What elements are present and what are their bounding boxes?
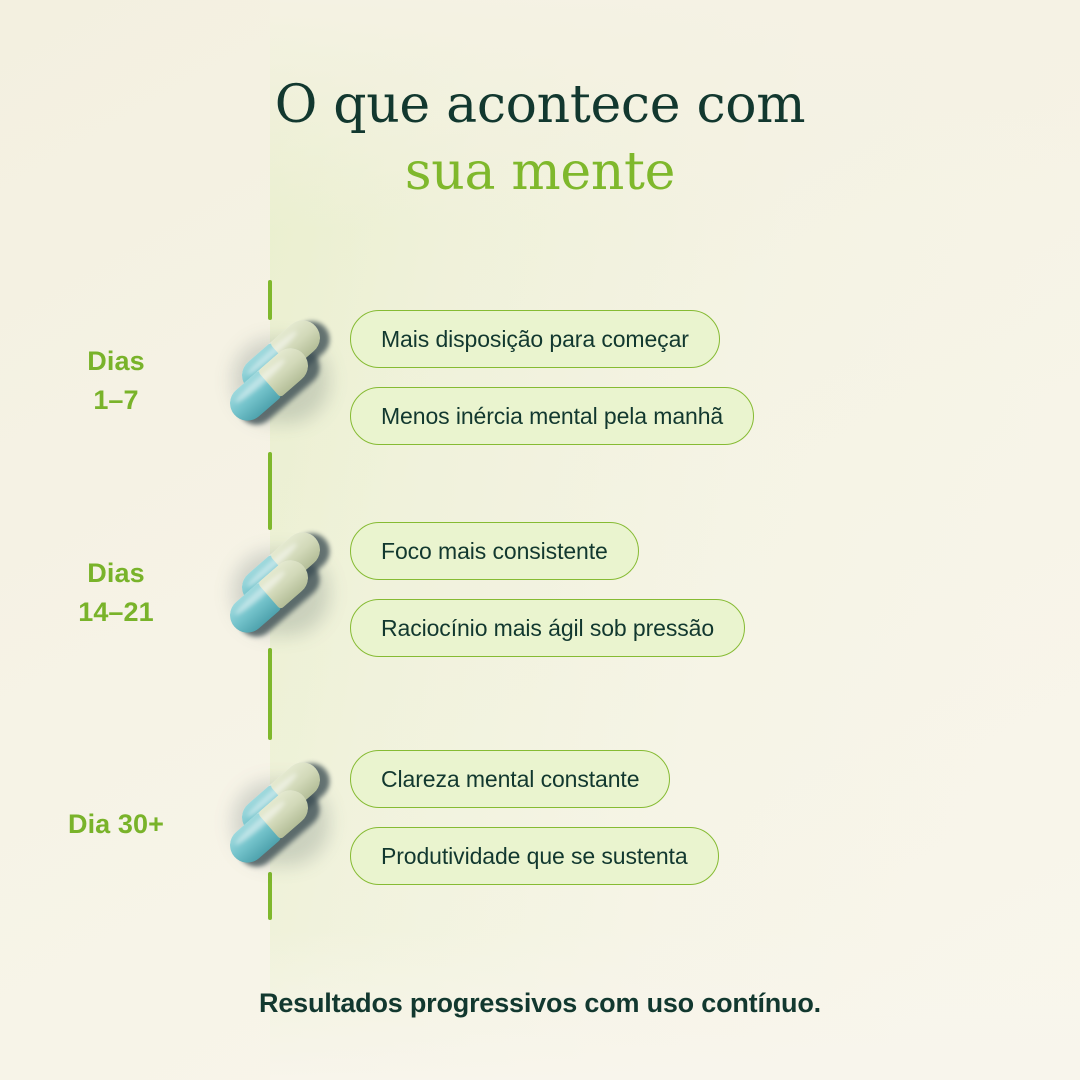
timeline-row-2-label-line2: 14–21 xyxy=(0,593,232,632)
infographic-canvas: O que acontece com sua mente Dias 1–7 xyxy=(0,0,1080,1080)
title-line-1: O que acontece com xyxy=(0,72,1080,139)
timeline-segment-1 xyxy=(268,280,272,320)
title-line-2: sua mente xyxy=(0,139,1080,206)
capsules-photo-icon-1 xyxy=(217,317,337,437)
page-title: O que acontece com sua mente xyxy=(0,72,1080,205)
timeline-row-3-chip-2[interactable]: Produtividade que se sustenta xyxy=(350,827,719,885)
timeline-row-3-label: Dia 30+ xyxy=(0,805,232,844)
timeline-row-2-chip-2[interactable]: Raciocínio mais ágil sob pressão xyxy=(350,599,745,657)
timeline-row-1-label-line2: 1–7 xyxy=(0,381,232,420)
timeline-segment-3 xyxy=(268,648,272,740)
timeline-row-1-chip-1[interactable]: Mais disposição para começar xyxy=(350,310,720,368)
timeline-row-2-label: Dias 14–21 xyxy=(0,554,232,632)
timeline-row-1-label-line1: Dias xyxy=(0,342,232,381)
capsules-photo-icon-2 xyxy=(217,529,337,649)
timeline-row-2-label-line1: Dias xyxy=(0,554,232,593)
timeline-row-3-label-line1: Dia 30+ xyxy=(0,805,232,844)
timeline-segment-2 xyxy=(268,452,272,530)
capsules-photo-icon-3 xyxy=(217,759,337,879)
timeline-row-3-chip-1[interactable]: Clareza mental constante xyxy=(350,750,670,808)
timeline-row-1-chip-2[interactable]: Menos inércia mental pela manhã xyxy=(350,387,754,445)
timeline-segment-4 xyxy=(268,872,272,920)
footer-caption: Resultados progressivos com uso contínuo… xyxy=(0,988,1080,1019)
timeline-row-2-chip-1[interactable]: Foco mais consistente xyxy=(350,522,639,580)
timeline-row-1-label: Dias 1–7 xyxy=(0,342,232,420)
